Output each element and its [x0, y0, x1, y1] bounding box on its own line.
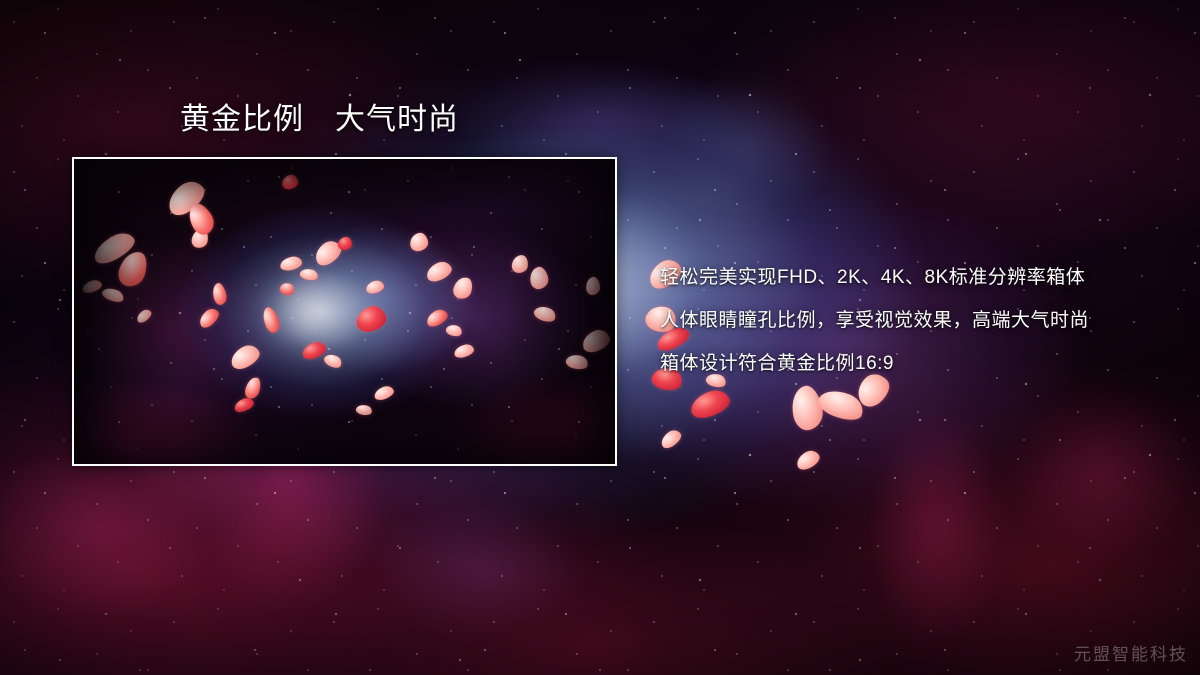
petal	[788, 383, 826, 432]
framed-image-16-9	[72, 157, 617, 466]
presentation-slide: 黄金比例 大气时尚	[0, 0, 1200, 675]
body-text-block: 轻松完美实现FHD、2K、4K、8K标准分辨率箱体 人体眼睛瞳孔比例，享受视觉效…	[660, 256, 1170, 385]
framed-image-edge-shadow	[74, 159, 615, 464]
petal	[687, 386, 732, 421]
body-text-line: 箱体设计符合黄金比例16:9	[660, 342, 1170, 385]
watermark: 元盟智能科技	[1074, 640, 1188, 665]
framed-image-content	[74, 159, 615, 464]
petal	[658, 427, 684, 451]
body-text-line: 人体眼睛瞳孔比例，享受视觉效果，高端大气时尚	[660, 299, 1170, 342]
petal	[815, 384, 867, 425]
body-text-line: 轻松完美实现FHD、2K、4K、8K标准分辨率箱体	[660, 256, 1170, 299]
page-title: 黄金比例 大气时尚	[180, 100, 459, 141]
petal	[794, 448, 823, 473]
